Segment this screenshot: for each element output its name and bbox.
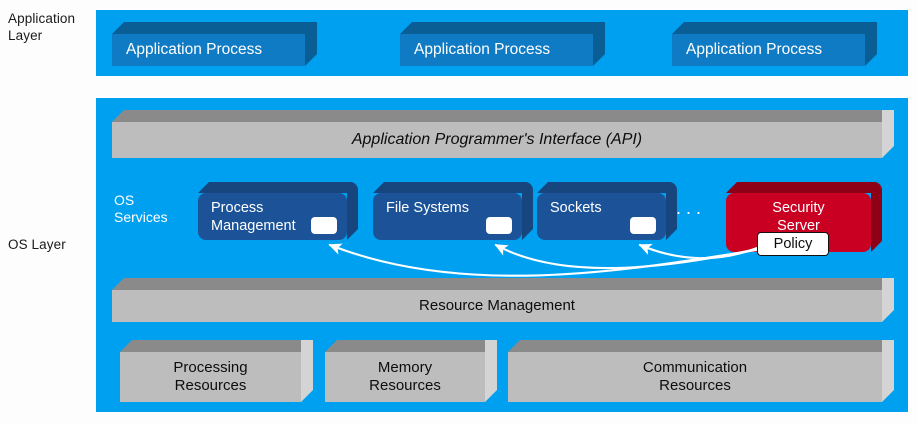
- resource-box-communication[interactable]: Communication Resources: [508, 340, 894, 402]
- box-top-face: [400, 22, 605, 34]
- application-layer-label: Application Layer: [8, 10, 75, 44]
- policy-hook-file-systems[interactable]: [486, 217, 512, 234]
- box-top-face: [112, 110, 894, 122]
- resource-box-processing[interactable]: Processing Resources: [120, 340, 313, 402]
- service-box-file-systems[interactable]: File Systems: [373, 182, 533, 240]
- box-side-face: [305, 22, 317, 66]
- application-process-box-3[interactable]: Application Process: [672, 22, 877, 66]
- ellipsis-indicator: ...: [676, 198, 706, 219]
- box-side-face: [301, 340, 313, 402]
- box-top-face: [198, 182, 358, 193]
- resource-label: Communication Resources: [508, 352, 882, 402]
- box-side-face: [882, 278, 894, 322]
- os-services-caption: OS Services: [114, 192, 168, 226]
- resource-label: Processing Resources: [120, 352, 301, 402]
- box-top-face: [672, 22, 877, 34]
- box-side-face: [882, 110, 894, 158]
- box-top-face: [508, 340, 894, 352]
- box-top-face: [325, 340, 497, 352]
- application-process-box-1[interactable]: Application Process: [112, 22, 317, 66]
- box-top-face: [112, 22, 317, 34]
- resource-box-memory[interactable]: Memory Resources: [325, 340, 497, 402]
- policy-box[interactable]: Policy: [757, 232, 829, 256]
- application-process-label: Application Process: [112, 34, 305, 66]
- box-side-face: [522, 182, 533, 240]
- api-bar[interactable]: Application Programmer's Interface (API): [112, 110, 894, 158]
- box-top-face: [112, 278, 894, 290]
- box-side-face: [865, 22, 877, 66]
- resource-label: Memory Resources: [325, 352, 485, 402]
- api-bar-label: Application Programmer's Interface (API): [112, 122, 882, 158]
- diagram-canvas: Application Layer OS Layer Application P…: [0, 0, 917, 424]
- application-process-box-2[interactable]: Application Process: [400, 22, 605, 66]
- box-side-face: [871, 182, 882, 252]
- resource-management-bar[interactable]: Resource Management: [112, 278, 894, 322]
- resource-management-label: Resource Management: [112, 290, 882, 322]
- box-side-face: [882, 340, 894, 402]
- box-top-face: [537, 182, 677, 193]
- service-box-sockets[interactable]: Sockets: [537, 182, 677, 240]
- box-side-face: [593, 22, 605, 66]
- os-layer-label: OS Layer: [8, 236, 66, 253]
- box-side-face: [485, 340, 497, 402]
- box-side-face: [347, 182, 358, 240]
- application-process-label: Application Process: [672, 34, 865, 66]
- service-box-process-management[interactable]: Process Management: [198, 182, 358, 240]
- box-top-face: [373, 182, 533, 193]
- policy-hook-process-management[interactable]: [311, 217, 337, 234]
- box-top-face: [726, 182, 882, 193]
- application-process-label: Application Process: [400, 34, 593, 66]
- policy-hook-sockets[interactable]: [630, 217, 656, 234]
- box-top-face: [120, 340, 313, 352]
